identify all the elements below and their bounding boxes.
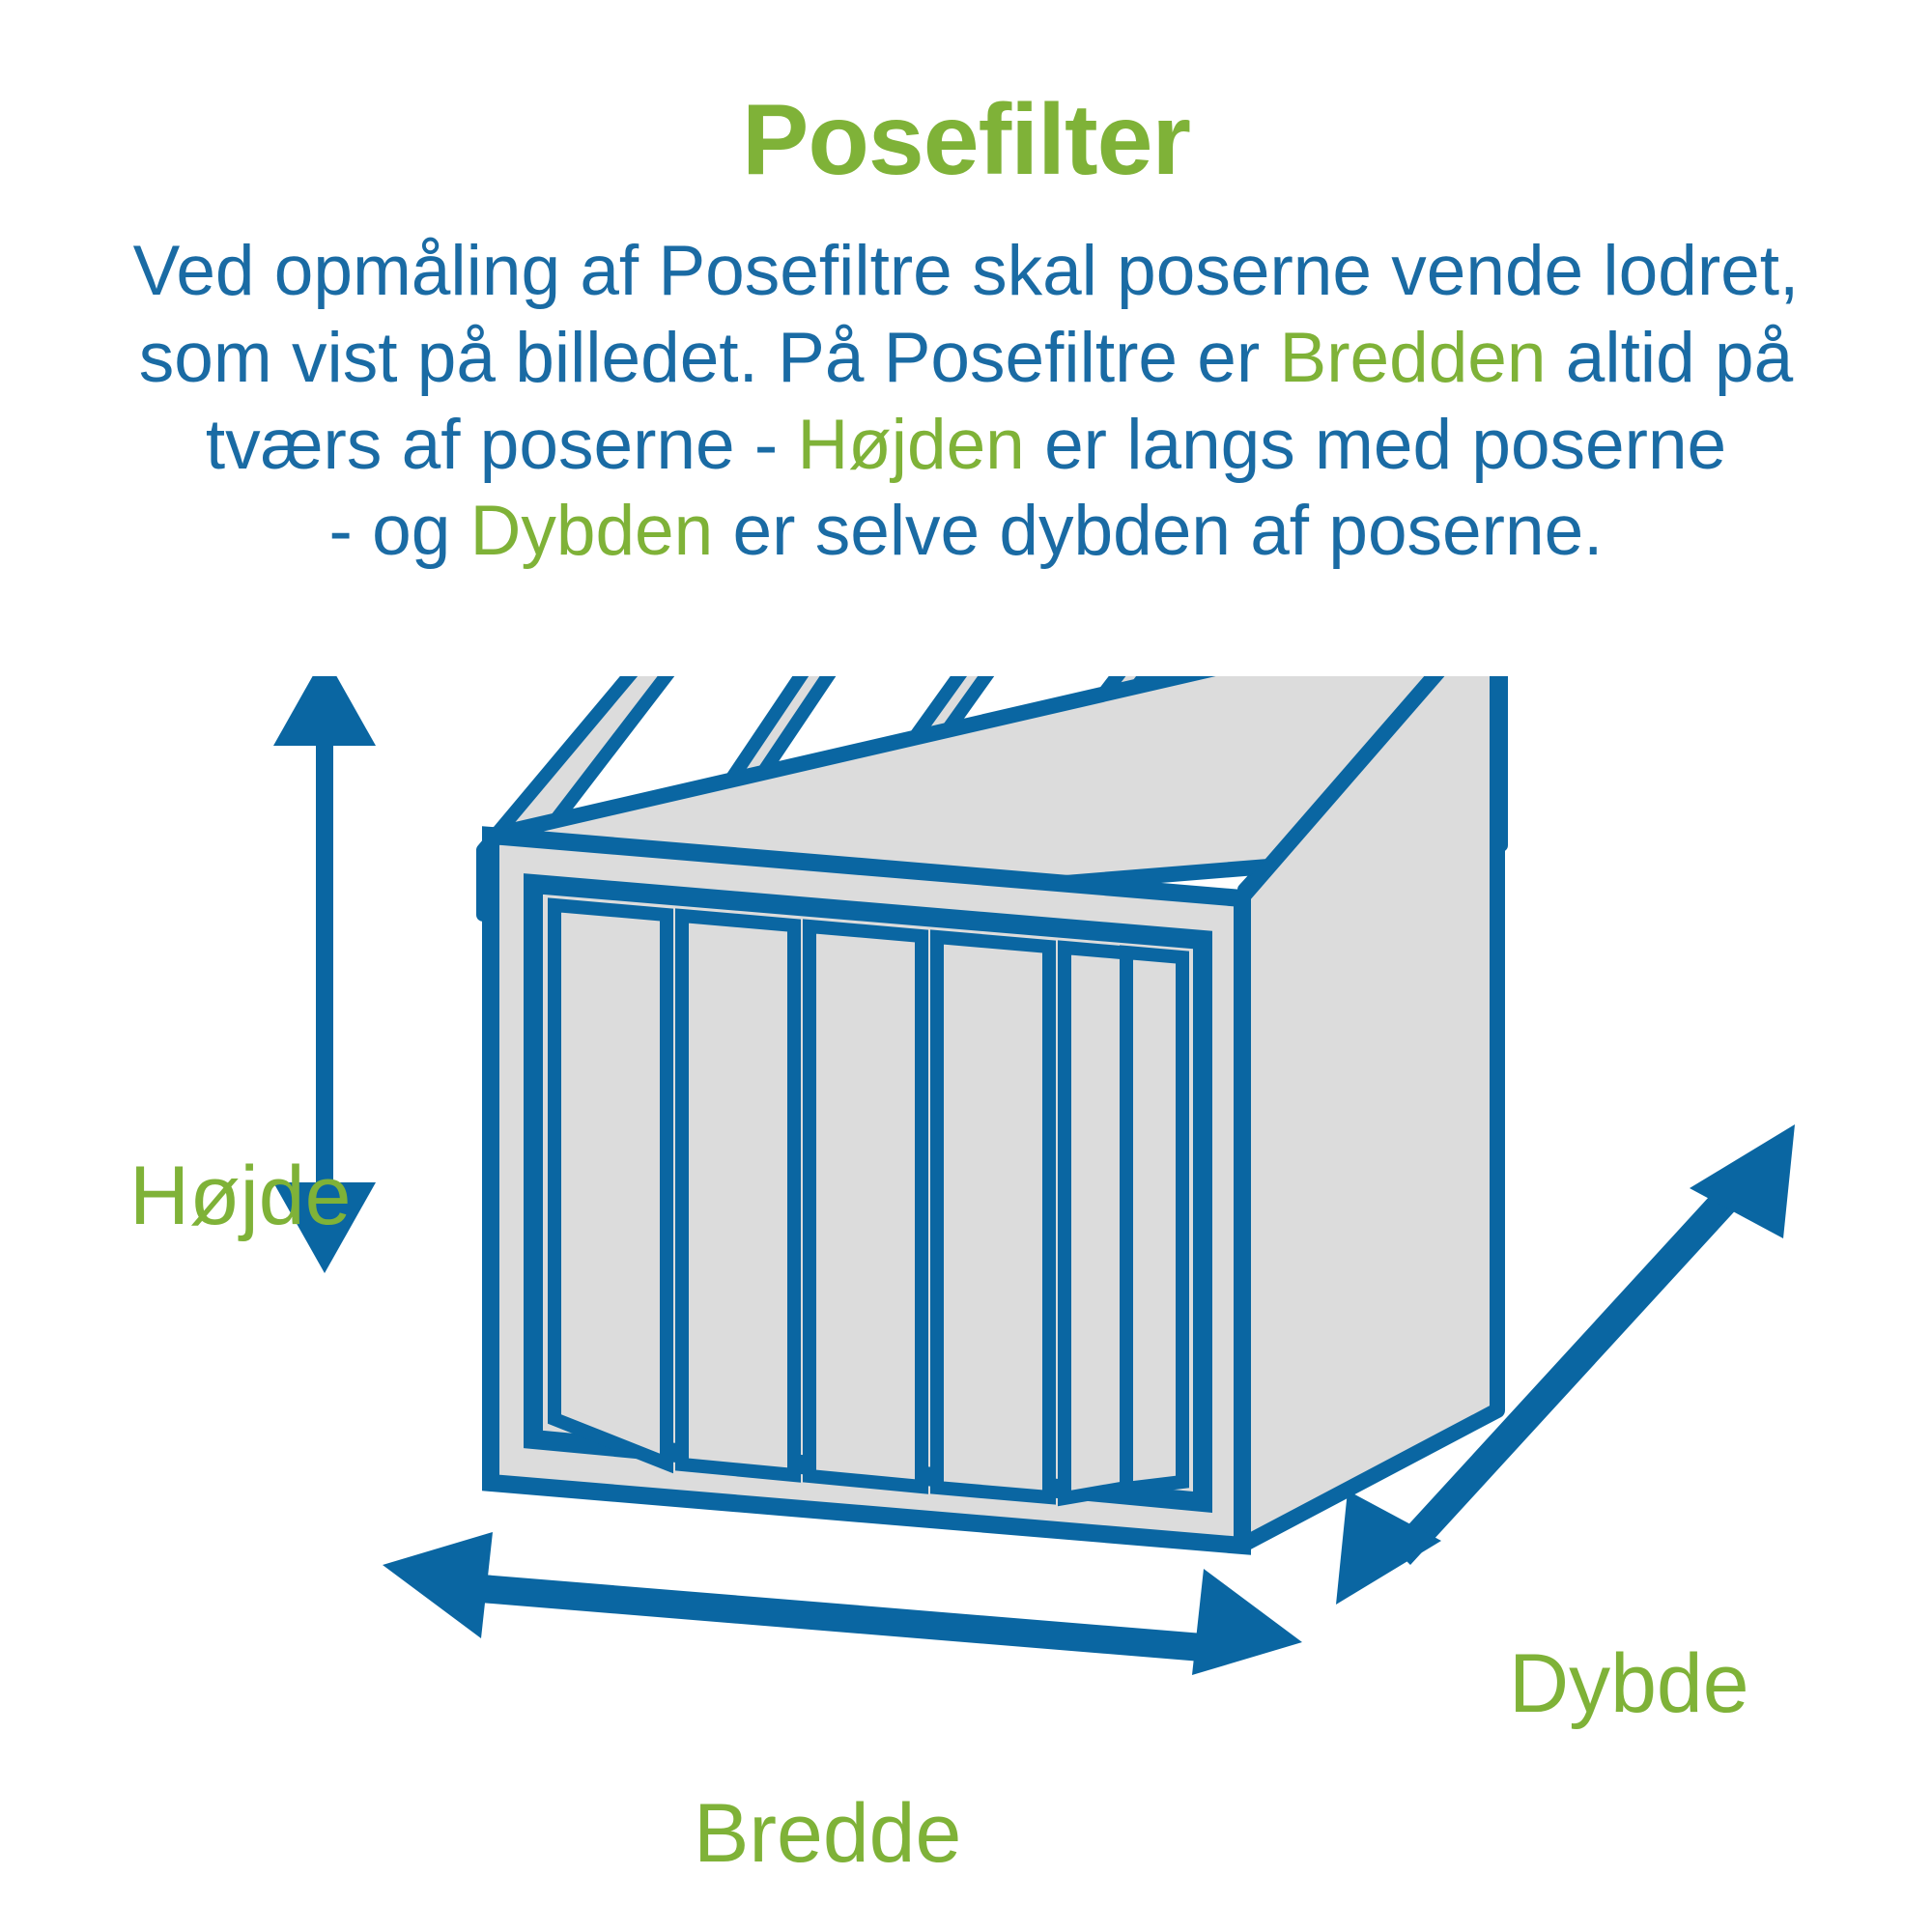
width-arrow-head-right [1192,1569,1302,1675]
text-segment: som vist på billedet. På Posefiltre er [139,319,1280,397]
width-arrow-shaft [457,1573,1227,1663]
text-segment: - og [329,492,470,570]
paragraph-line-3: tværs af poserne - Højden er langs med p… [58,402,1874,489]
text-segment: tværs af poserne - [206,406,798,484]
text-segment: er langs med poserne [1025,406,1726,484]
highlight-hojden: Højden [797,406,1024,484]
dimension-label-height: Højde [129,1154,351,1237]
paragraph-line-4: - og Dybden er selve dybden af poserne. [58,488,1874,575]
pocket-cells-group [554,905,1182,1498]
pocket-cell-3 [810,926,922,1487]
text-segment: Ved opmåling af Posefiltre skal poserne … [133,232,1800,310]
text-segment: er selve dybden af poserne. [713,492,1603,570]
filter-illustration [273,676,1795,1675]
pocket-cell-2 [682,916,794,1475]
height-arrow-head-up [273,676,376,746]
paragraph-line-2: som vist på billedet. På Posefiltre er B… [58,315,1874,402]
text-segment: altid på [1547,319,1794,397]
dimension-label-depth: Dybde [1509,1642,1749,1725]
header-block: Posefilter Ved opmåling af Posefiltre sk… [0,0,1932,575]
bag-filter-diagram [0,676,1932,1932]
height-arrow-shaft [316,710,333,1217]
paragraph-line-1: Ved opmåling af Posefiltre skal poserne … [58,228,1874,315]
pocket-cell-1 [554,905,667,1463]
highlight-bredden: Bredden [1280,319,1547,397]
dimension-label-width: Bredde [694,1792,961,1875]
page-title: Posefilter [0,0,1932,191]
pocket-cell-4 [937,937,1049,1497]
width-arrow-head-left [383,1532,493,1638]
width-arrow [383,1532,1302,1675]
pocket-cell-6 [1126,952,1182,1489]
highlight-dybden: Dybden [470,492,714,570]
intro-paragraph: Ved opmåling af Posefiltre skal poserne … [58,191,1874,575]
